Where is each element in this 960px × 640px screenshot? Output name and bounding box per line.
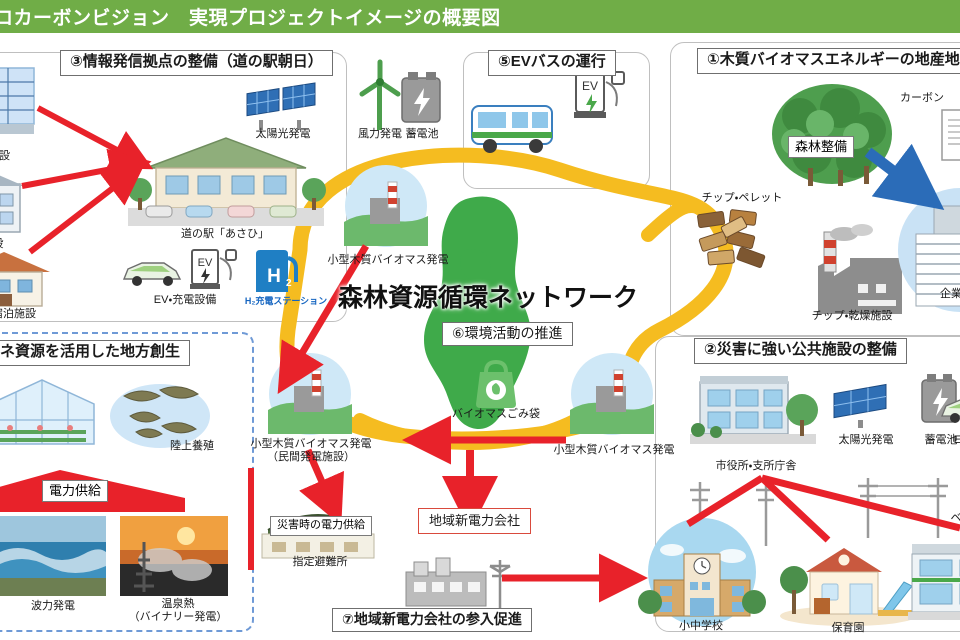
section2-solar-label: 太陽光発電	[820, 434, 912, 447]
hot-spring-line2: （バイナリー発電）	[126, 611, 230, 624]
roadside-station-illustration	[128, 128, 324, 226]
ev-charger-label: EV・充電設備	[120, 294, 250, 307]
biomass-top-label: 小型木質バイオマス発電	[318, 254, 458, 267]
disaster-power-label: 災害時の電力供給	[270, 516, 372, 536]
forest-maintenance-label: 森林整備	[788, 136, 854, 158]
lodging-illustration	[0, 250, 64, 310]
chip-drying-label: チップ・乾燥施設	[782, 310, 922, 323]
forest-illustration	[768, 80, 898, 190]
biomass-node-right	[570, 352, 654, 436]
section-4-heading: ネ資源を活用した地方創生	[0, 340, 190, 366]
section-7-heading: ⑦地域新電力会社の参入促進	[332, 608, 532, 632]
biomass-node-left	[268, 352, 352, 436]
hydrogen-station-label: H₂充電ステーション	[240, 296, 332, 307]
battery-illustration	[398, 72, 446, 130]
section2-solar-illustration	[832, 380, 894, 428]
infographic-canvas: ロカーボンビジョン 実現プロジェクトイメージの概要図	[0, 0, 960, 640]
svg-text:EV: EV	[198, 257, 213, 269]
page-title-bar: ロカーボンビジョン 実現プロジェクトイメージの概要図	[0, 0, 960, 33]
nursery-label: 保育園	[806, 622, 890, 635]
biomass-bag-illustration	[470, 358, 522, 408]
svg-text:H: H	[267, 266, 281, 287]
biomass-right-label: 小型木質バイオマス発電	[548, 444, 680, 457]
chip-drying-plant-illustration	[800, 228, 910, 314]
public-facility-right-illustration	[908, 538, 960, 624]
lodging-label: 宿泊施設	[0, 308, 60, 321]
school-illustration	[636, 528, 768, 624]
biomass-left-line2: （民間発電施設）	[246, 451, 376, 464]
building-illustration-left	[0, 170, 44, 240]
certificate-document-illustration	[940, 108, 960, 164]
ev-bus-charger-illustration: EV	[572, 70, 630, 132]
hot-spring-photo	[120, 516, 228, 596]
wave-power-photo	[0, 516, 106, 596]
svg-text:2: 2	[286, 278, 292, 289]
ev-bus-illustration	[470, 100, 560, 158]
battery-label: 蓄電池	[392, 128, 452, 141]
aquaculture-fish-illustration	[108, 372, 212, 450]
env-activity-box: ⑥環境活動の推進	[442, 322, 573, 346]
city-hall-label: 市役所・支所庁舎	[684, 460, 828, 473]
wind-turbine-illustration	[356, 60, 404, 132]
biomass-left-label: 小型木質バイオマス発電 （民間発電施設）	[246, 438, 376, 464]
section-5-heading: ⑤EVバスの運行	[488, 50, 616, 76]
section2-right-cut-label: ベ	[944, 512, 960, 525]
aquaculture-label: 陸上養殖	[160, 440, 224, 453]
wood-chips-illustration	[692, 205, 788, 275]
solar-facility-illustration	[0, 62, 50, 150]
svg-text:EV: EV	[582, 79, 598, 93]
page-title: ロカーボンビジョン 実現プロジェクトイメージの概要図	[0, 3, 501, 30]
school-label: 小中学校	[650, 620, 752, 633]
wave-power-label: 波力発電	[8, 600, 98, 613]
section2-ev-label: EV	[946, 434, 960, 447]
biomass-node-top	[344, 164, 428, 248]
carbon-credit-label: カーボン	[900, 92, 960, 105]
new-power-company-box: 地域新電力会社	[418, 508, 531, 534]
solar-label: 太陽光発電	[238, 128, 328, 141]
biomass-left-line1: 小型木質バイオマス発電	[246, 438, 376, 451]
power-plant-illustration	[396, 552, 522, 614]
section2-ev-illustration	[940, 392, 960, 426]
section3-facility2-label: 設	[0, 238, 18, 251]
hot-spring-line1: 温泉熱	[126, 598, 230, 611]
ev-car-illustration	[120, 255, 184, 289]
section3-facility-label: 施設	[0, 150, 22, 163]
roadside-station-label: 道の駅「あさひ」	[140, 228, 310, 241]
section-3-heading: ③情報発信拠点の整備（道の駅朝日）	[60, 50, 333, 76]
shelter-label: 指定避難所	[272, 556, 368, 569]
city-hall-illustration	[690, 374, 816, 450]
solar-panel-illustration	[245, 80, 321, 132]
network-title: 森林資源循環ネットワーク	[338, 278, 638, 314]
power-supply-label: 電力供給	[42, 480, 108, 502]
company-label: 企業	[926, 288, 960, 301]
biomass-bag-label: バイオマスごみ袋	[430, 408, 562, 421]
hydrogen-station-illustration: H 2	[248, 248, 310, 296]
greenhouse-illustration	[0, 378, 100, 454]
section-1-heading: ①木質バイオマスエネルギーの地産地消	[697, 48, 960, 74]
section-2-heading: ②災害に強い公共施設の整備	[694, 338, 907, 364]
chip-pellet-label: チップ・ペレット	[682, 192, 802, 205]
nursery-illustration	[778, 540, 918, 624]
ev-charger-illustration: EV	[188, 248, 244, 296]
hot-spring-label: 温泉熱 （バイナリー発電）	[126, 598, 230, 624]
